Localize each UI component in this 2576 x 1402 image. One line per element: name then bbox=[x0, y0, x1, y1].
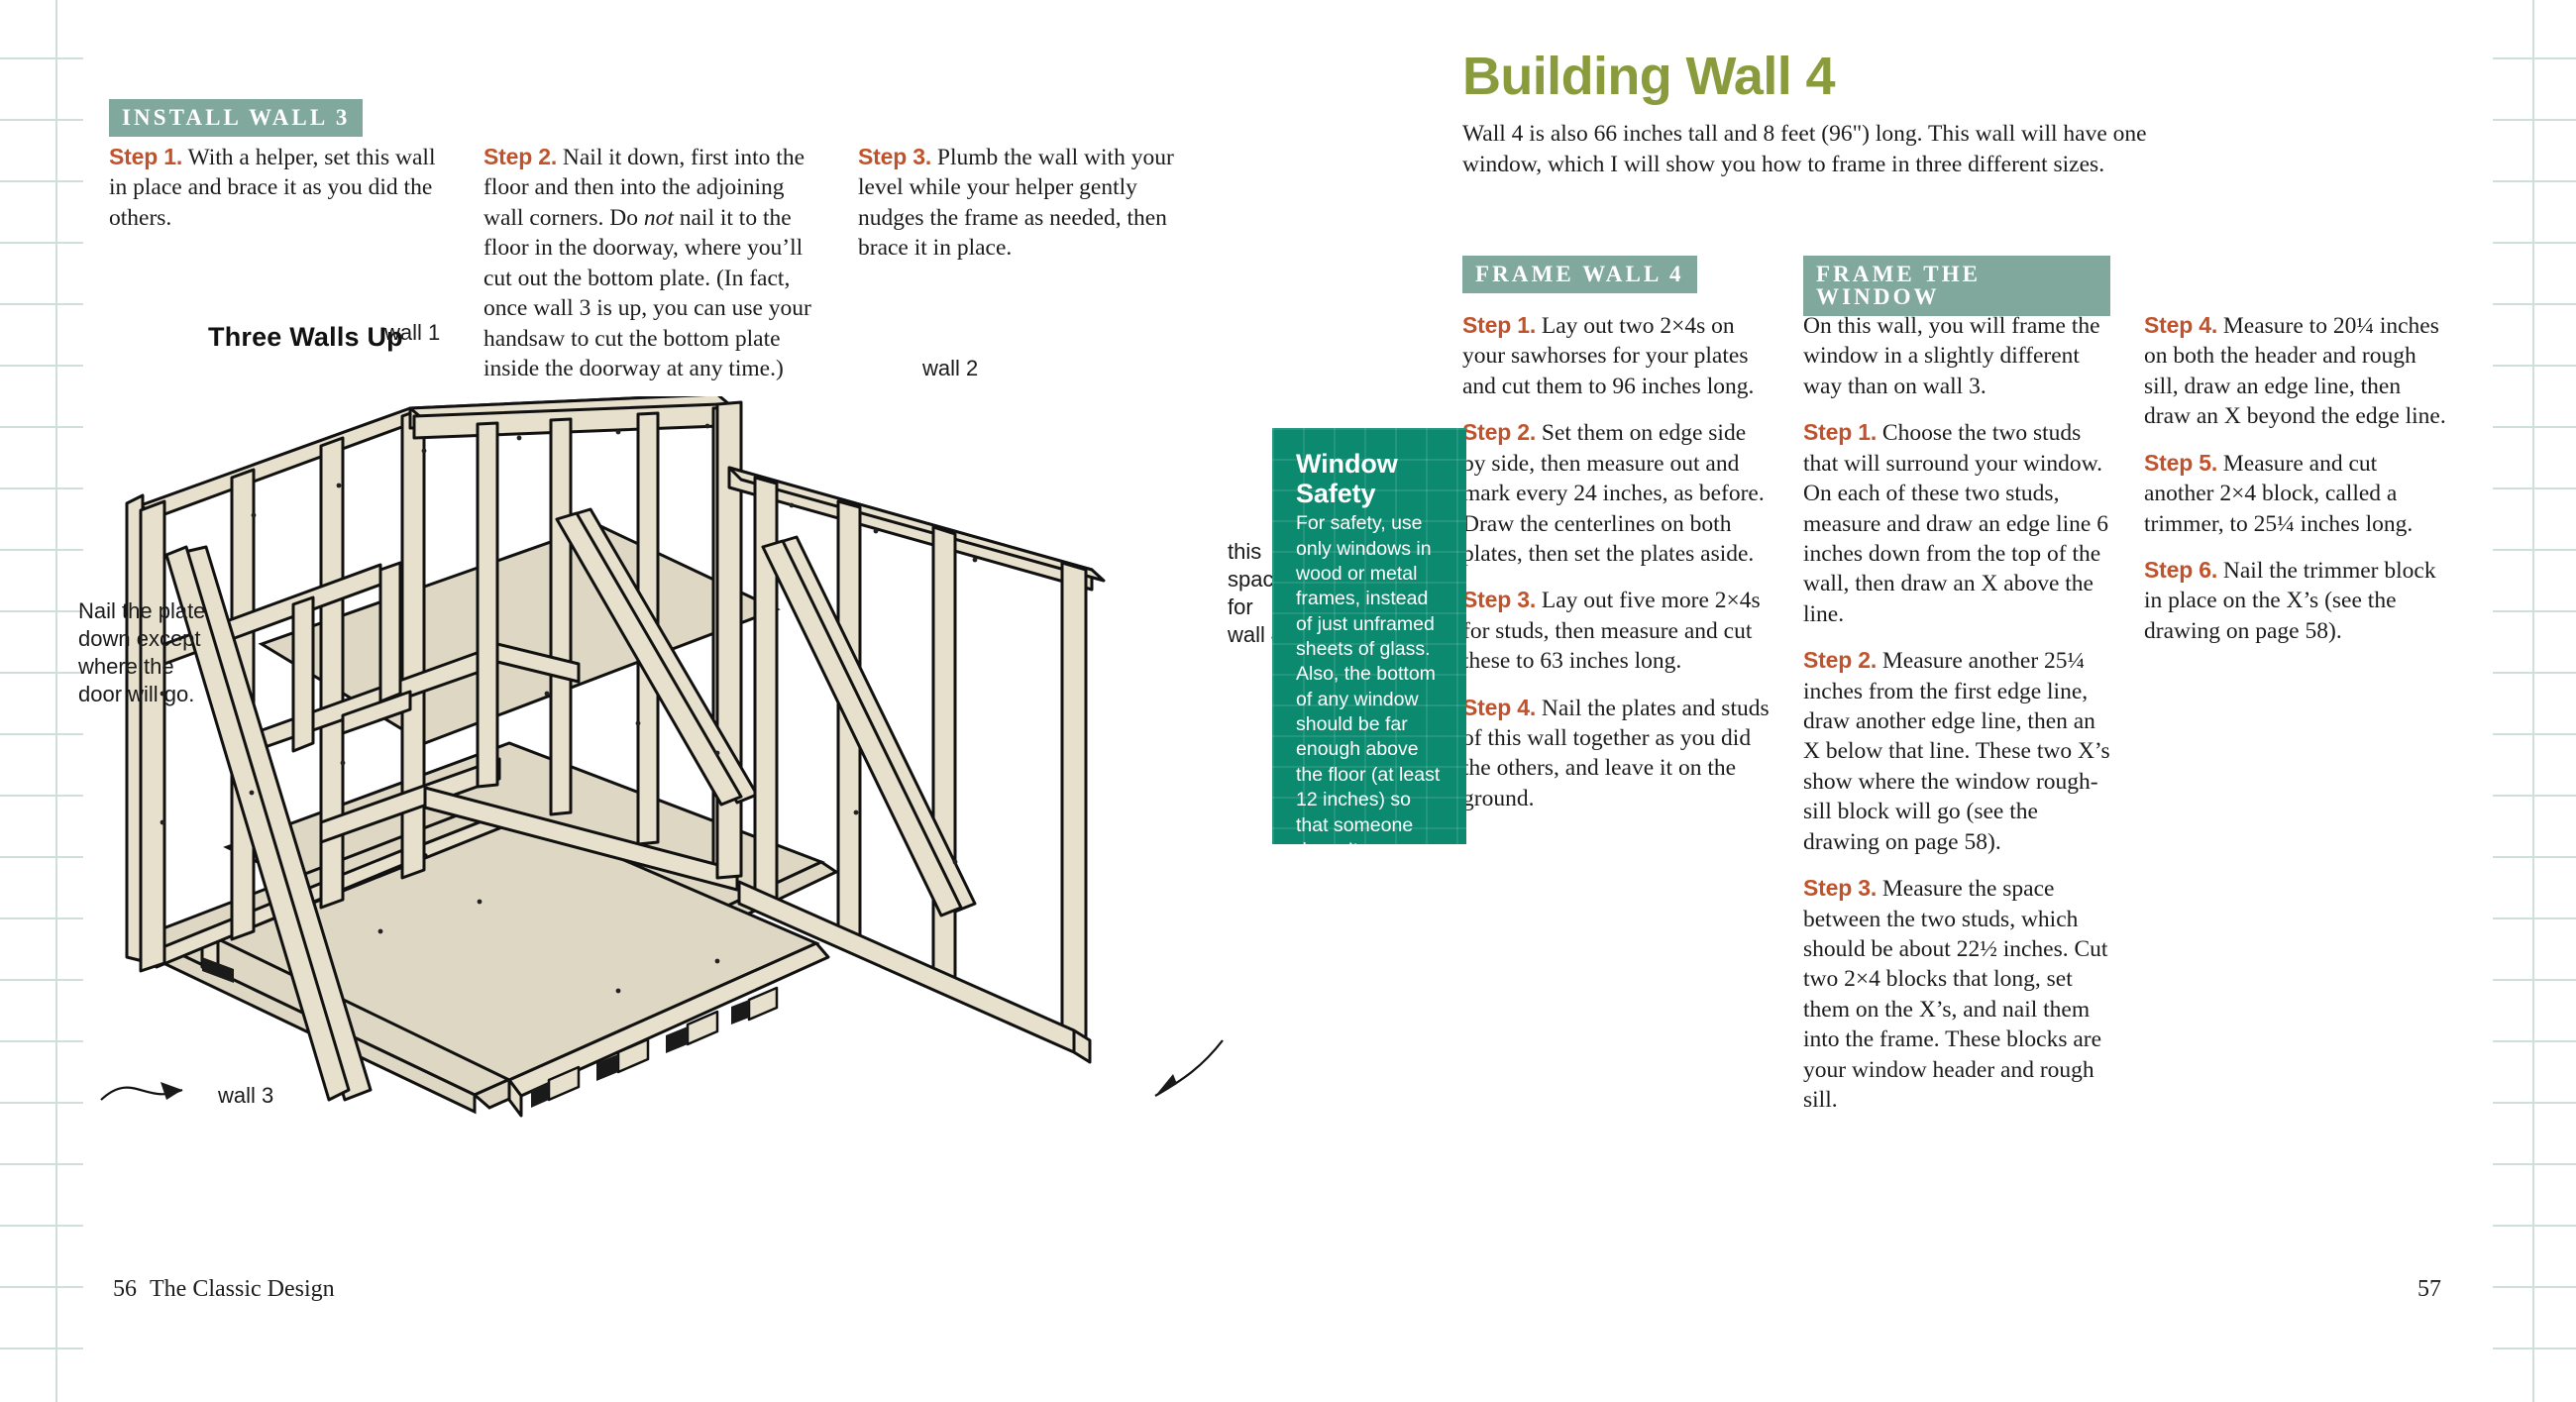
spacer-row bbox=[2144, 256, 2451, 299]
page-title-building-wall-4: Building Wall 4 bbox=[1462, 50, 1835, 103]
left-step-1: Step 1. With a helper, set this wall in … bbox=[109, 143, 450, 233]
running-foot-left: The Classic Design bbox=[150, 1276, 335, 1303]
step-text: Choose the two studs that will surround … bbox=[1803, 420, 2108, 627]
emphasis-not: not bbox=[644, 205, 674, 231]
left-step-3: Step 3. Plumb the wall with your level w… bbox=[858, 143, 1199, 264]
r3-step-5: Step 5. Measure and cut another 2×4 bloc… bbox=[2144, 449, 2451, 539]
step-label: Step 3. bbox=[858, 144, 931, 169]
left-margin-grid bbox=[0, 0, 83, 1402]
right-column-3: Step 4. Measure to 20¼ inches on both th… bbox=[2144, 256, 2451, 1116]
r2-step-1: Step 1. Choose the two studs that will s… bbox=[1803, 418, 2110, 629]
step-label: Step 5. bbox=[2144, 450, 2217, 476]
frame-wall-4-label-row: FRAME WALL 4 bbox=[1462, 256, 1770, 299]
left-col1-body: Step 1. With a helper, set this wall in … bbox=[109, 143, 450, 233]
r2-intro: On this wall, you will frame the window … bbox=[1803, 311, 2110, 401]
left-column-2: Step 2. Nail it down, first into the flo… bbox=[483, 99, 824, 383]
callout-title: Window Safety bbox=[1296, 450, 1447, 508]
frame-the-window-label-row: FRAME THE WINDOW bbox=[1803, 256, 2110, 299]
section-label-frame-the-window: FRAME THE WINDOW bbox=[1803, 256, 2110, 316]
r1-step-1: Step 1. Lay out two 2×4s on your sawhors… bbox=[1462, 311, 1770, 401]
spacer-row bbox=[483, 99, 824, 143]
step-label: Step 4. bbox=[1462, 695, 1536, 720]
step-label: Step 1. bbox=[1803, 419, 1877, 445]
step-text: Measure another 25¼ inches from the firs… bbox=[1803, 648, 2110, 855]
step-label: Step 2. bbox=[483, 144, 557, 169]
callout-body: For safety, use only windows in wood or … bbox=[1296, 511, 1447, 844]
step-label: Step 1. bbox=[1462, 312, 1536, 338]
illustration-label-wall2: wall 2 bbox=[922, 355, 978, 382]
r3-step-4: Step 4. Measure to 20¼ inches on both th… bbox=[2144, 311, 2451, 432]
three-walls-up-illustration: Three Walls Up .w{fill:#e7e0cc;stroke:#1… bbox=[83, 396, 1288, 1199]
folio-number-left: 56 bbox=[113, 1276, 137, 1303]
section-label-frame-wall-4: FRAME WALL 4 bbox=[1462, 256, 1697, 293]
right-text-columns: FRAME WALL 4 Step 1. Lay out two 2×4s on… bbox=[1462, 256, 2453, 1116]
r1-step-4: Step 4. Nail the plates and studs of thi… bbox=[1462, 694, 1770, 814]
r1-step-2: Step 2. Set them on edge side by side, t… bbox=[1462, 418, 1770, 569]
right-column-2: FRAME THE WINDOW On this wall, you will … bbox=[1803, 256, 2110, 1116]
intro-paragraph: Wall 4 is also 66 inches tall and 8 feet… bbox=[1462, 119, 2156, 179]
left-step-2: Step 2. Nail it down, first into the flo… bbox=[483, 143, 824, 383]
illustration-label-nail-the-plate: Nail the plate down except where the doo… bbox=[78, 597, 205, 709]
book-spread: INSTALL WALL 3 Step 1. With a helper, se… bbox=[0, 0, 2576, 1402]
left-page: INSTALL WALL 3 Step 1. With a helper, se… bbox=[83, 0, 1288, 1402]
step-label: Step 6. bbox=[2144, 557, 2217, 583]
spacer-row bbox=[858, 99, 1199, 143]
step-label: Step 4. bbox=[2144, 312, 2217, 338]
right-col2-body: On this wall, you will frame the window … bbox=[1803, 311, 2110, 1116]
r3-step-6: Step 6. Nail the trimmer block in place … bbox=[2144, 556, 2451, 646]
r2-step-3: Step 3. Measure the space between the tw… bbox=[1803, 874, 2110, 1115]
left-col2-body: Step 2. Nail it down, first into the flo… bbox=[483, 143, 824, 383]
step-label: Step 3. bbox=[1462, 587, 1536, 612]
illustration-label-wall3: wall 3 bbox=[218, 1082, 273, 1110]
right-col1-body: Step 1. Lay out two 2×4s on your sawhors… bbox=[1462, 311, 1770, 813]
right-page: Building Wall 4 Wall 4 is also 66 inches… bbox=[1288, 0, 2493, 1402]
step-label: Step 3. bbox=[1803, 875, 1877, 901]
left-col3-body: Step 3. Plumb the wall with your level w… bbox=[858, 143, 1199, 264]
callout-content: Window Safety For safety, use only windo… bbox=[1272, 428, 1466, 844]
section-label-install-wall-3: INSTALL WALL 3 bbox=[109, 99, 363, 137]
r1-step-3: Step 3. Lay out five more 2×4s for studs… bbox=[1462, 586, 1770, 676]
right-margin-grid bbox=[2493, 0, 2576, 1402]
r2-step-2: Step 2. Measure another 25¼ inches from … bbox=[1803, 646, 2110, 857]
step-text-b: nail it to the floor in the doorway, whe… bbox=[483, 205, 811, 381]
right-column-1: FRAME WALL 4 Step 1. Lay out two 2×4s on… bbox=[1462, 256, 1770, 1116]
step-label: Step 1. bbox=[109, 144, 182, 169]
left-column-3: Step 3. Plumb the wall with your level w… bbox=[858, 99, 1199, 383]
illustration-label-wall1: wall 1 bbox=[384, 319, 440, 347]
folio-number-right: 57 bbox=[2417, 1276, 2441, 1303]
shed-framing-drawing: .w{fill:#e7e0cc;stroke:#111;stroke-width… bbox=[83, 396, 1288, 1199]
step-text: Measure the space between the two studs,… bbox=[1803, 876, 2107, 1113]
right-col3-body: Step 4. Measure to 20¼ inches on both th… bbox=[2144, 311, 2451, 646]
step-label: Step 2. bbox=[1803, 647, 1877, 673]
window-safety-callout: Window Safety For safety, use only windo… bbox=[1272, 428, 1466, 844]
illustration-title: Three Walls Up bbox=[208, 322, 403, 353]
step-label: Step 2. bbox=[1462, 419, 1536, 445]
install-wall-3-label-row: INSTALL WALL 3 bbox=[109, 99, 450, 143]
